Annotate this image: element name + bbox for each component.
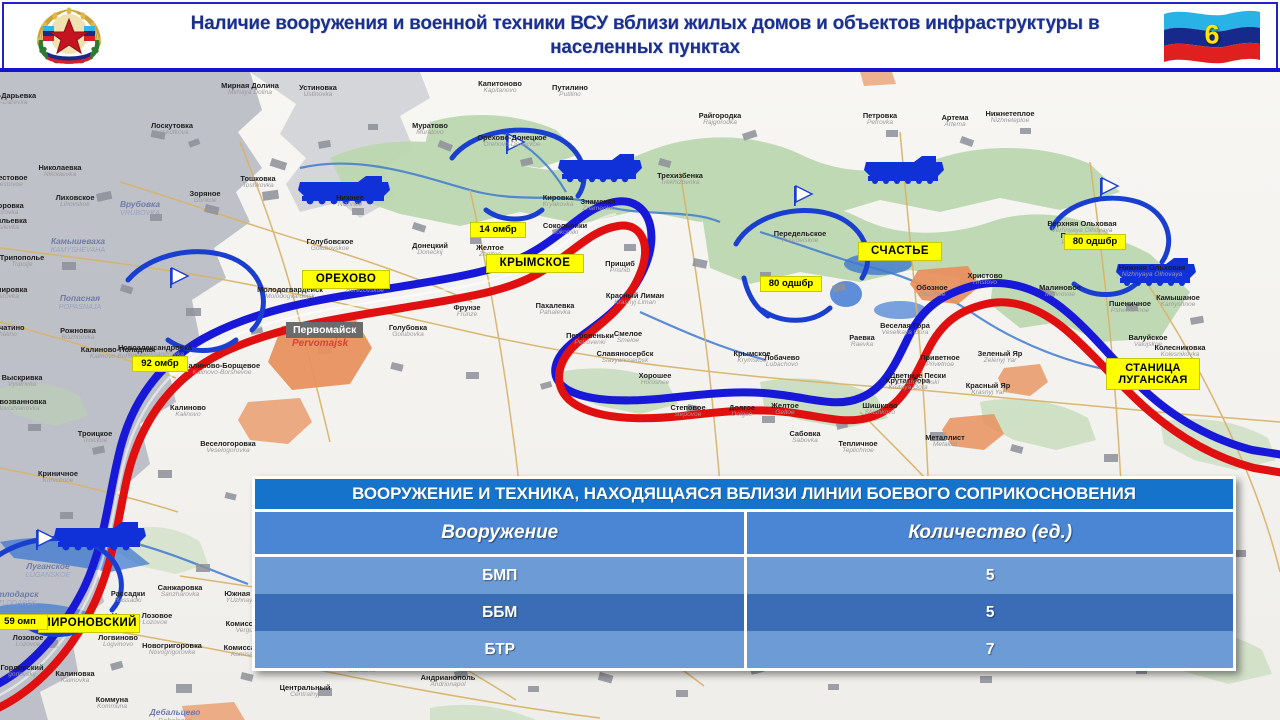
slide-root: Ивано-ДарьевкаIvano-DarevkaЛоскутовкаLos… xyxy=(0,0,1280,720)
callout-unit-80-odshbr-east[interactable]: 80 одшбр xyxy=(1064,234,1126,250)
callout-unit-59-omp[interactable]: 59 омп xyxy=(0,614,48,630)
weapons-table-col-count: Количество (ед.) xyxy=(746,512,1233,556)
weapons-table-cell-weapon: БМП xyxy=(255,556,746,595)
weapons-table-cell-count: 7 xyxy=(746,631,1233,668)
table-row: БТР 7 xyxy=(255,631,1233,668)
callout-orehovo[interactable]: ОРЕХОВО xyxy=(302,270,390,289)
flag-container: 6 xyxy=(1150,4,1274,68)
lpr-flag xyxy=(1160,8,1264,64)
callout-schastye[interactable]: СЧАСТЬЕ xyxy=(858,242,942,261)
map-canvas[interactable]: Ивано-ДарьевкаIvano-DarevkaЛоскутовкаLos… xyxy=(0,72,1280,720)
callout-stanitsa-luganskaya[interactable]: СТАНИЦА ЛУГАНСКАЯ xyxy=(1106,358,1200,390)
callout-unit-80-odshbr-center[interactable]: 80 одшбр xyxy=(760,276,822,292)
weapons-table: Вооружение Количество (ед.) БМП 5 ББМ 5 … xyxy=(255,512,1233,668)
callout-unit-14-ombr[interactable]: 14 омбр xyxy=(470,222,526,238)
weapons-table-title: ВООРУЖЕНИЕ И ТЕХНИКА, НАХОДЯЩАЯСЯ ВБЛИЗИ… xyxy=(255,479,1233,509)
title-container: Наличие вооружения и военной техники ВСУ… xyxy=(150,4,1140,68)
slide-header: Наличие вооружения и военной техники ВСУ… xyxy=(0,0,1280,72)
weapons-table-cell-count: 5 xyxy=(746,556,1233,595)
table-row: ББМ 5 xyxy=(255,594,1233,631)
weapons-table-col-weapon: Вооружение xyxy=(255,512,746,556)
weapons-table-header-row: Вооружение Количество (ед.) xyxy=(255,512,1233,556)
callout-mironovskiy[interactable]: МИРОНОВСКИЙ xyxy=(38,614,140,633)
emblem-container xyxy=(4,3,134,69)
table-row: БМП 5 xyxy=(255,556,1233,595)
weapons-table-body: БМП 5 ББМ 5 БТР 7 xyxy=(255,556,1233,669)
weapons-table-cell-weapon: БТР xyxy=(255,631,746,668)
weapons-table-panel: ВООРУЖЕНИЕ И ТЕХНИКА, НАХОДЯЩАЯСЯ ВБЛИЗИ… xyxy=(252,476,1236,671)
callout-unit-92-ombr[interactable]: 92 омбр xyxy=(132,356,188,372)
weapons-table-cell-count: 5 xyxy=(746,594,1233,631)
callout-krymskoe[interactable]: КРЫМСКОЕ xyxy=(486,254,584,273)
page-title: Наличие вооружения и военной техники ВСУ… xyxy=(165,12,1125,60)
weapons-table-cell-weapon: ББМ xyxy=(255,594,746,631)
lpr-coat-of-arms xyxy=(31,6,107,66)
callout-stanitsa-line1: СТАНИЦА xyxy=(1125,362,1181,374)
callout-stanitsa-line2: ЛУГАНСКАЯ xyxy=(1118,374,1187,386)
